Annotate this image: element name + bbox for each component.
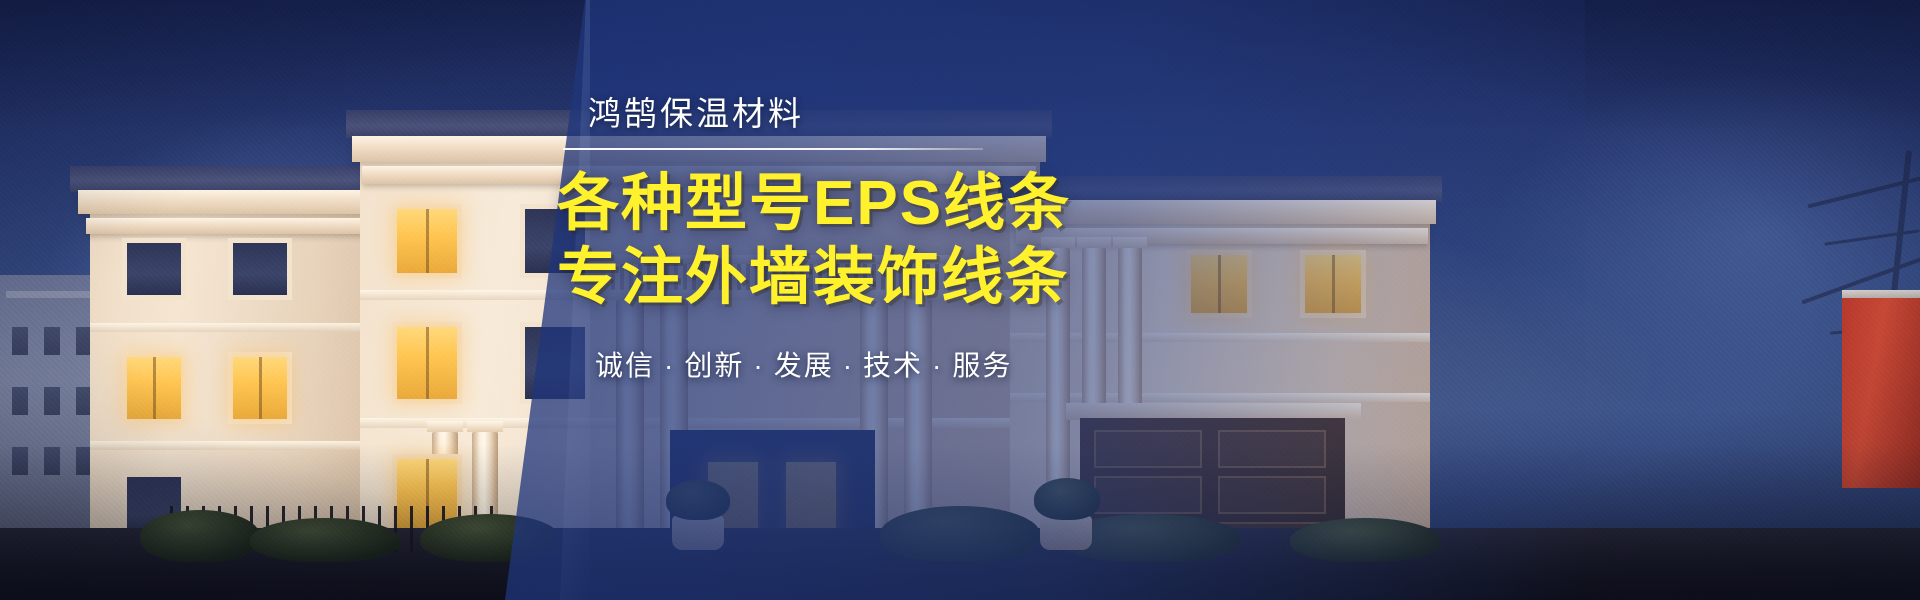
tagline-item: 创新: [684, 350, 744, 381]
tagline-item: 服务: [952, 350, 1012, 381]
tagline-item: 技术: [863, 350, 923, 381]
divider-rule: [563, 148, 983, 150]
tagline-separator: ·: [753, 350, 764, 381]
tagline-separator: ·: [843, 350, 854, 381]
tagline: 诚信·创新·发展·技术·服务: [595, 344, 1195, 384]
company-name: 鸿鹄保温材料: [588, 96, 1195, 132]
tagline-item: 发展: [774, 350, 834, 381]
tagline-item: 诚信: [595, 350, 655, 381]
tagline-separator: ·: [664, 350, 675, 381]
promotional-banner: 鸿鹄保温材料 各种型号EPS线条 专注外墙装饰线条 诚信·创新·发展·技术·服务: [0, 0, 1920, 600]
tagline-separator: ·: [932, 350, 943, 381]
banner-text-block: 鸿鹄保温材料 各种型号EPS线条 专注外墙装饰线条 诚信·创新·发展·技术·服务: [555, 96, 1195, 384]
headline-line-1: 各种型号EPS线条: [557, 168, 1195, 240]
headline-line-2: 专注外墙装饰线条: [557, 242, 1195, 314]
